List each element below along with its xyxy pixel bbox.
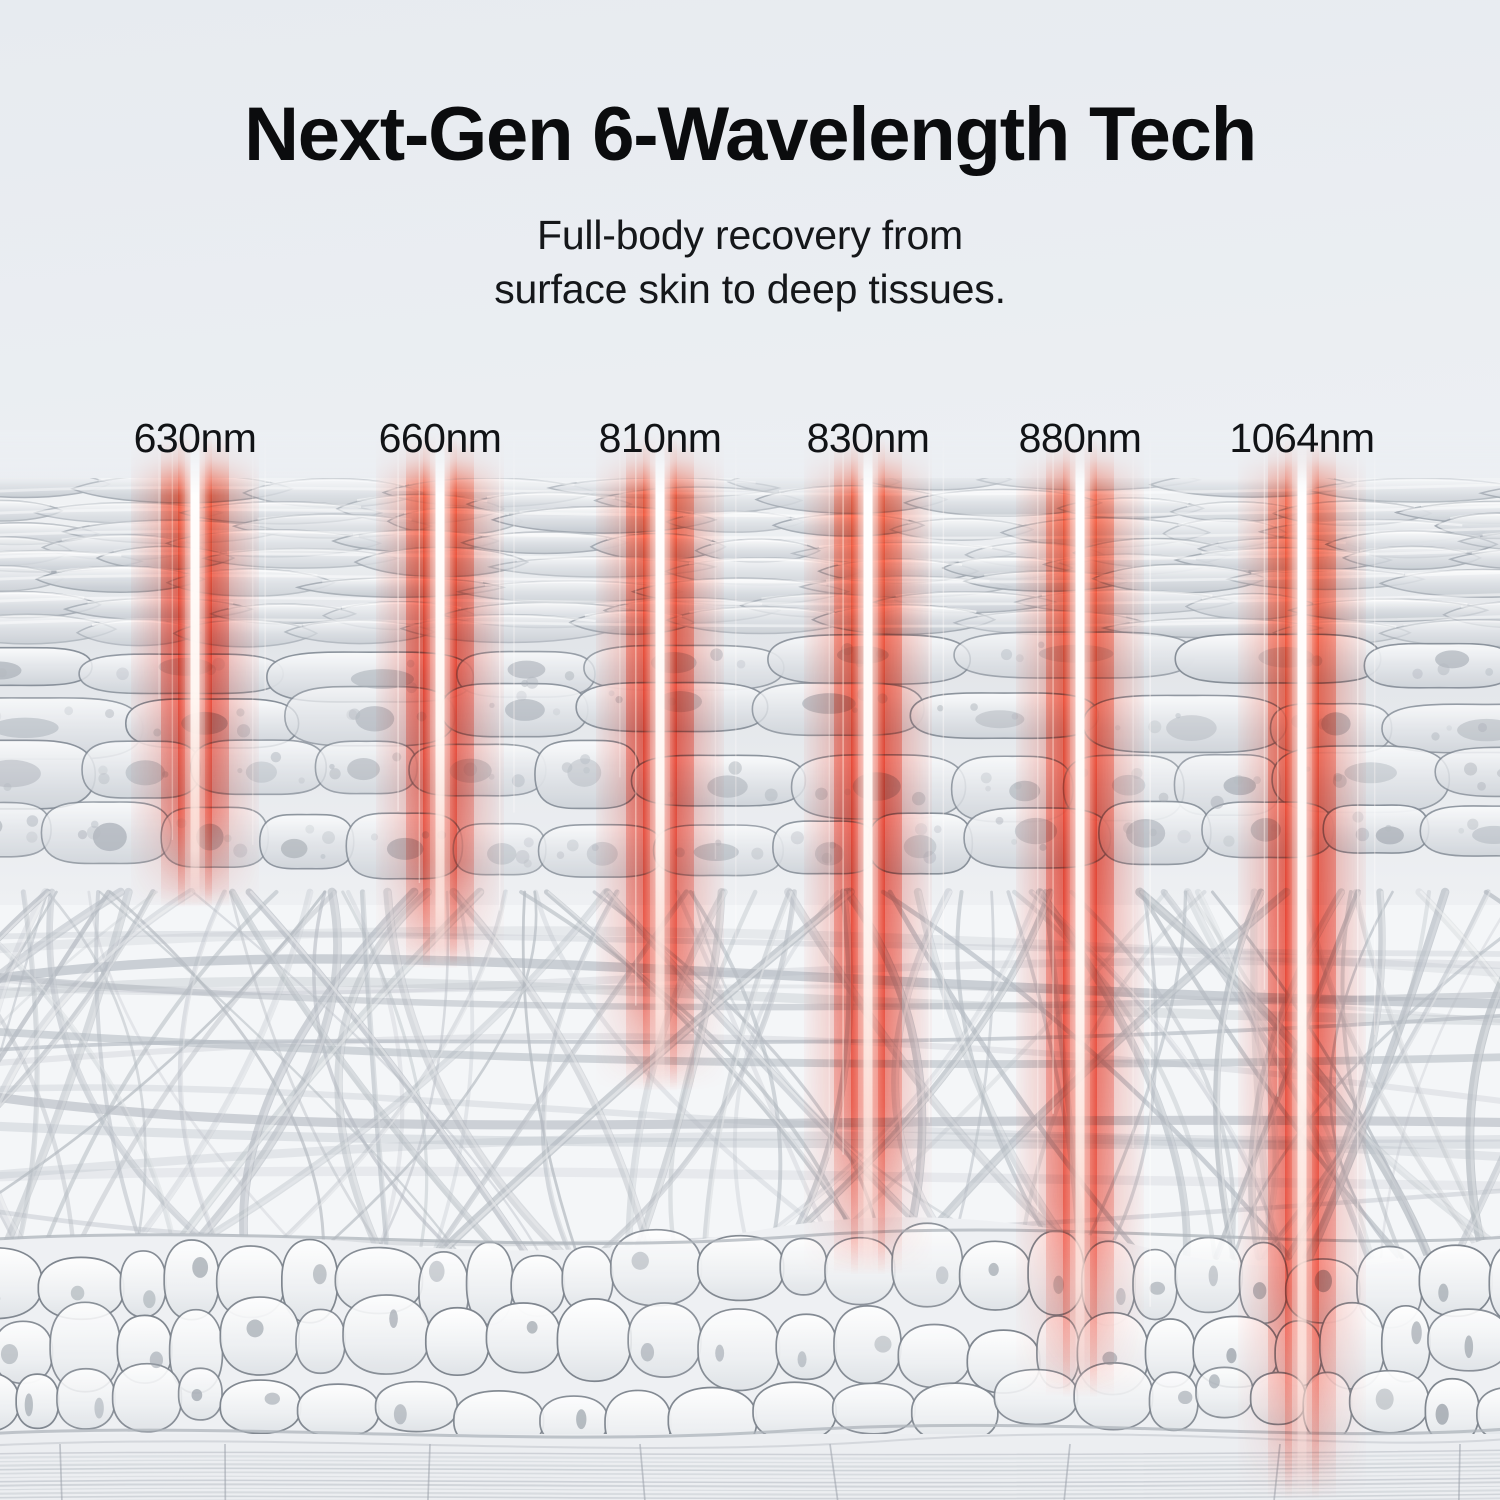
page-subtitle: Full-body recovery from surface skin to …	[0, 174, 1500, 318]
page-title: Next-Gen 6-Wavelength Tech	[0, 0, 1500, 174]
wavelength-label-row: 630nm660nm810nm830nm880nm1064nm	[0, 415, 1500, 477]
wavelength-label-810nm: 810nm	[599, 415, 722, 462]
header: Next-Gen 6-Wavelength Tech Full-body rec…	[0, 0, 1500, 317]
wavelength-label-1064nm: 1064nm	[1229, 415, 1374, 462]
wavelength-label-880nm: 880nm	[1019, 415, 1142, 462]
wavelength-label-630nm: 630nm	[134, 415, 257, 462]
wavelength-label-660nm: 660nm	[379, 415, 502, 462]
subtitle-line-2: surface skin to deep tissues.	[0, 262, 1500, 317]
product-infographic: Next-Gen 6-Wavelength Tech Full-body rec…	[0, 0, 1500, 1500]
skin-cross-section-illustration	[0, 478, 1500, 1500]
subtitle-line-1: Full-body recovery from	[0, 208, 1500, 263]
wavelength-label-830nm: 830nm	[807, 415, 930, 462]
